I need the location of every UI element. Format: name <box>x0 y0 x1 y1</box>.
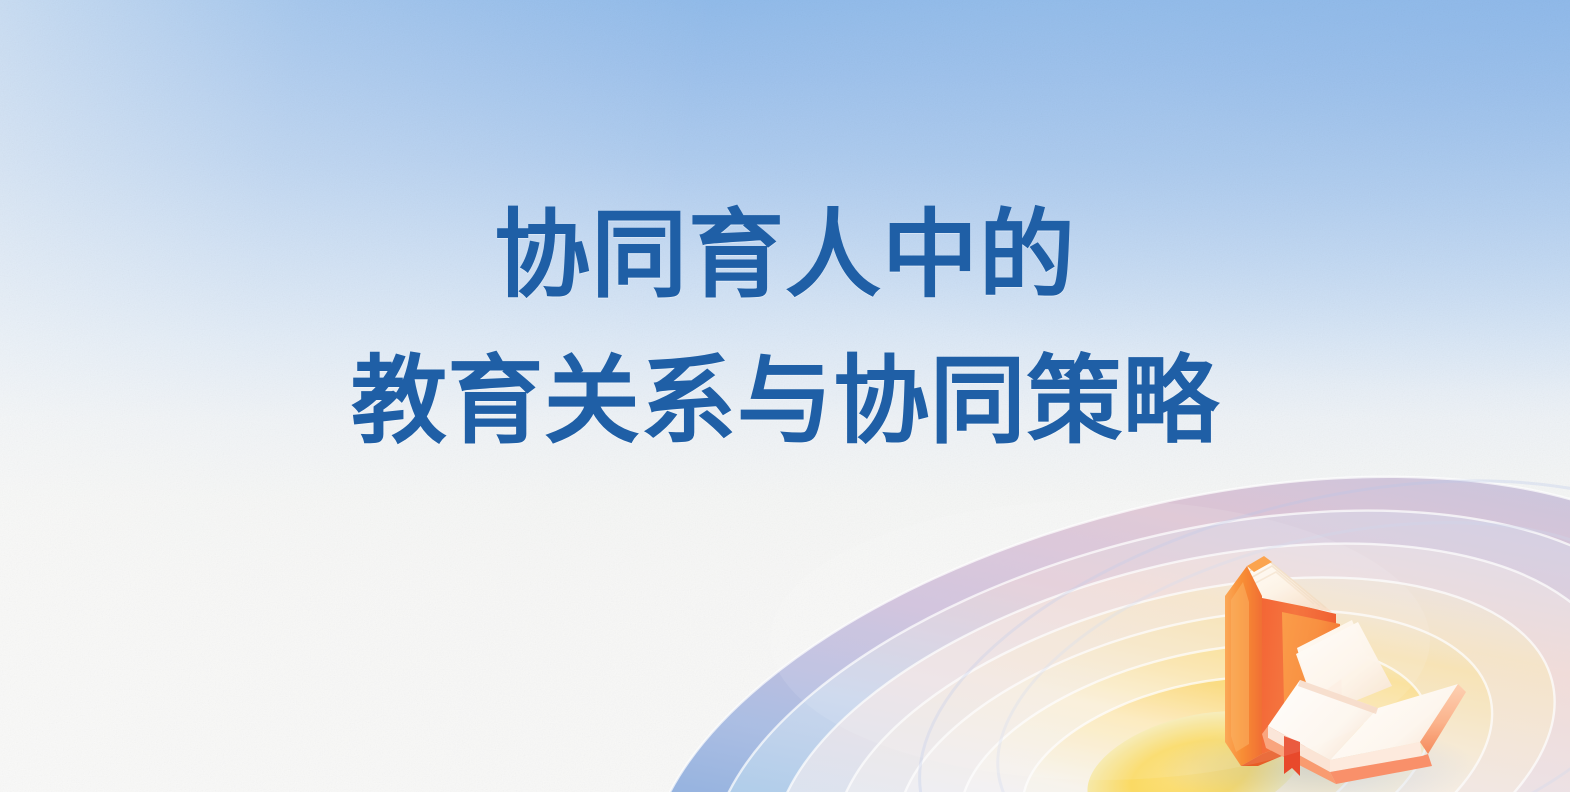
slide-title: 协同育人中的 教育关系与协同策略 <box>0 196 1570 462</box>
title-line-1: 协同育人中的 <box>0 196 1570 314</box>
title-line-2: 教育关系与协同策略 <box>0 340 1570 462</box>
title-slide: 协同育人中的 教育关系与协同策略 <box>0 0 1570 792</box>
